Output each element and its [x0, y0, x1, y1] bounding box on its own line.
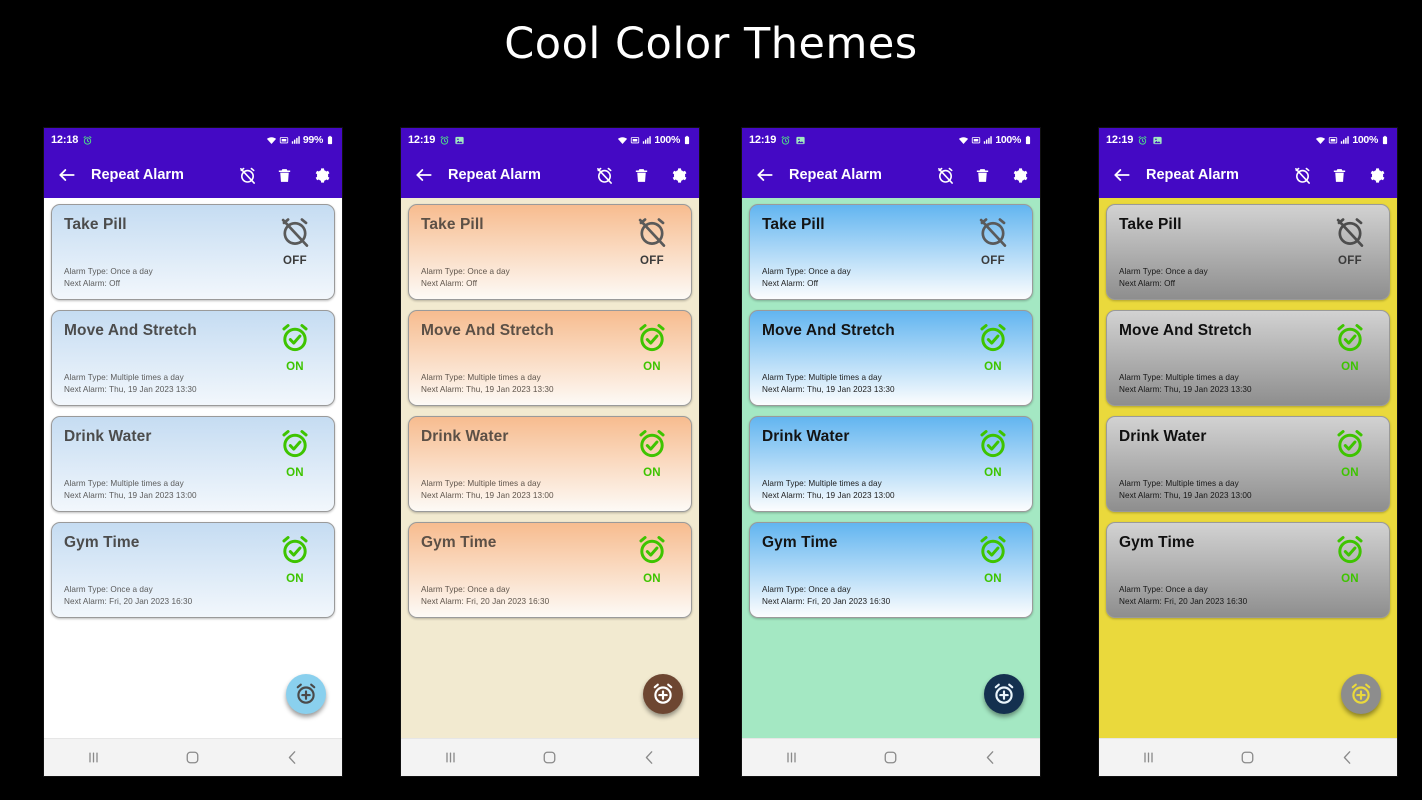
- alarm-type: Alarm Type: Multiple times a day: [762, 372, 895, 384]
- arrow-left-icon[interactable]: [55, 163, 79, 187]
- alarm-next: Next Alarm: Thu, 19 Jan 2023 13:30: [1119, 384, 1252, 396]
- alarm-meta: Alarm Type: Once a dayNext Alarm: Fri, 2…: [421, 584, 549, 607]
- alarm-card[interactable]: Gym TimeAlarm Type: Once a dayNext Alarm…: [749, 522, 1033, 618]
- alarm-meta: Alarm Type: Multiple times a dayNext Ala…: [64, 478, 197, 501]
- phone-mockup-yellow-grey: 12:19100%Repeat AlarmTake PillAlarm Type…: [1099, 128, 1397, 776]
- alarm-next: Next Alarm: Off: [64, 278, 153, 290]
- alarm-type: Alarm Type: Once a day: [421, 584, 549, 596]
- alarm-card[interactable]: Gym TimeAlarm Type: Once a dayNext Alarm…: [1106, 522, 1390, 618]
- status-image-icon: [454, 135, 465, 146]
- alarm-state-label: ON: [1341, 361, 1359, 373]
- alarm-card[interactable]: Move And StretchAlarm Type: Multiple tim…: [408, 310, 692, 406]
- alarm-state-label: ON: [643, 573, 661, 585]
- alarm-off-icon: [278, 215, 312, 254]
- app-bar: Repeat Alarm: [44, 152, 342, 198]
- alarm-meta: Alarm Type: Multiple times a dayNext Ala…: [1119, 478, 1252, 501]
- status-bar: 12:19100%: [401, 128, 699, 152]
- status-image-icon: [1152, 135, 1163, 146]
- appbar-trash-button[interactable]: [972, 165, 992, 185]
- phone-mockups-row: 12:1899%Repeat AlarmTake PillAlarm Type:…: [0, 128, 1422, 778]
- app-bar-title: Repeat Alarm: [1146, 167, 1239, 183]
- alarm-list-screen: Take PillAlarm Type: Once a dayNext Alar…: [44, 198, 342, 738]
- alarm-toggle-state[interactable]: OFF: [965, 215, 1021, 267]
- alarm-meta: Alarm Type: Multiple times a dayNext Ala…: [421, 372, 554, 395]
- app-bar: Repeat Alarm: [1099, 152, 1397, 198]
- alarm-toggle-state[interactable]: ON: [965, 321, 1021, 373]
- add-alarm-fab[interactable]: [643, 674, 683, 714]
- appbar-gear-button[interactable]: [1366, 165, 1386, 185]
- status-time: 12:19: [408, 134, 435, 146]
- appbar-alarm-off-button[interactable]: [935, 165, 955, 185]
- alarm-state-label: ON: [643, 361, 661, 373]
- alarm-type: Alarm Type: Once a day: [762, 266, 851, 278]
- alarm-list: Take PillAlarm Type: Once a dayNext Alar…: [401, 198, 699, 618]
- alarm-next: Next Alarm: Fri, 20 Jan 2023 16:30: [64, 596, 192, 608]
- status-bar: 12:19100%: [1099, 128, 1397, 152]
- alarm-meta: Alarm Type: Once a dayNext Alarm: Fri, 2…: [64, 584, 192, 607]
- system-nav-bar: [401, 738, 699, 776]
- alarm-toggle-state[interactable]: ON: [624, 427, 680, 479]
- status-alarm-icon: [1137, 135, 1148, 146]
- alarm-type: Alarm Type: Once a day: [1119, 266, 1208, 278]
- alarm-meta: Alarm Type: Once a dayNext Alarm: Off: [1119, 266, 1208, 289]
- alarm-off-icon: [635, 215, 669, 254]
- alarm-card[interactable]: Drink WaterAlarm Type: Multiple times a …: [51, 416, 335, 512]
- app-bar-actions: [935, 165, 1029, 185]
- phone-mockup-light-blue: 12:1899%Repeat AlarmTake PillAlarm Type:…: [44, 128, 342, 776]
- nav-home-button[interactable]: [168, 743, 218, 773]
- alarm-next: Next Alarm: Thu, 19 Jan 2023 13:00: [64, 490, 197, 502]
- alarm-card[interactable]: Gym TimeAlarm Type: Once a dayNext Alarm…: [408, 522, 692, 618]
- alarm-check-icon: [635, 427, 669, 466]
- app-bar: Repeat Alarm: [401, 152, 699, 198]
- alarm-next: Next Alarm: Thu, 19 Jan 2023 13:30: [762, 384, 895, 396]
- alarm-state-label: ON: [1341, 467, 1359, 479]
- arrow-left-icon[interactable]: [753, 163, 777, 187]
- alarm-type: Alarm Type: Once a day: [64, 584, 192, 596]
- status-bar: 12:1899%: [44, 128, 342, 152]
- status-alarm-icon: [780, 135, 791, 146]
- alarm-state-label: ON: [286, 361, 304, 373]
- status-time: 12:18: [51, 134, 78, 146]
- battery-icon: [1380, 135, 1390, 145]
- alarm-card[interactable]: Take PillAlarm Type: Once a dayNext Alar…: [51, 204, 335, 300]
- alarm-type: Alarm Type: Multiple times a day: [64, 372, 197, 384]
- appbar-alarm-off-button[interactable]: [594, 165, 614, 185]
- wifi-icon: [958, 135, 969, 146]
- status-alarm-icon: [439, 135, 450, 146]
- appbar-trash-button[interactable]: [274, 165, 294, 185]
- alarm-card[interactable]: Move And StretchAlarm Type: Multiple tim…: [51, 310, 335, 406]
- alarm-next: Next Alarm: Thu, 19 Jan 2023 13:30: [421, 384, 554, 396]
- alarm-toggle-state[interactable]: OFF: [1322, 215, 1378, 267]
- alarm-next: Next Alarm: Thu, 19 Jan 2023 13:00: [1119, 490, 1252, 502]
- battery-percent: 99%: [303, 134, 323, 146]
- system-nav-bar: [1099, 738, 1397, 776]
- status-bar-left: 12:19: [408, 134, 465, 146]
- appbar-trash-button[interactable]: [1329, 165, 1349, 185]
- alarm-state-label: ON: [984, 467, 1002, 479]
- app-bar-actions: [594, 165, 688, 185]
- arrow-left-icon[interactable]: [1110, 163, 1134, 187]
- alarm-card[interactable]: Take PillAlarm Type: Once a dayNext Alar…: [749, 204, 1033, 300]
- status-time: 12:19: [1106, 134, 1133, 146]
- alarm-state-label: ON: [1341, 573, 1359, 585]
- nav-recents-button[interactable]: [1124, 743, 1174, 773]
- status-bar-right: 100%: [1315, 134, 1390, 146]
- alarm-type: Alarm Type: Once a day: [762, 584, 890, 596]
- alarm-toggle-state[interactable]: ON: [1322, 427, 1378, 479]
- wifi-icon: [617, 135, 628, 146]
- alarm-state-label: OFF: [981, 255, 1005, 267]
- alarm-type: Alarm Type: Multiple times a day: [64, 478, 197, 490]
- alarm-next: Next Alarm: Fri, 20 Jan 2023 16:30: [1119, 596, 1247, 608]
- add-alarm-fab[interactable]: [1341, 674, 1381, 714]
- alarm-check-icon: [278, 427, 312, 466]
- alarm-meta: Alarm Type: Multiple times a dayNext Ala…: [64, 372, 197, 395]
- alarm-list: Take PillAlarm Type: Once a dayNext Alar…: [44, 198, 342, 618]
- alarm-toggle-state[interactable]: ON: [267, 427, 323, 479]
- signal-icon: [642, 135, 652, 145]
- alarm-off-icon: [1333, 215, 1367, 254]
- system-nav-bar: [44, 738, 342, 776]
- alarm-toggle-state[interactable]: ON: [624, 533, 680, 585]
- alarm-state-label: OFF: [1338, 255, 1362, 267]
- appbar-alarm-off-button[interactable]: [1292, 165, 1312, 185]
- battery-percent: 100%: [995, 134, 1021, 146]
- alarm-next: Next Alarm: Fri, 20 Jan 2023 16:30: [421, 596, 549, 608]
- appbar-alarm-off-button[interactable]: [237, 165, 257, 185]
- status-bar-left: 12:19: [1106, 134, 1163, 146]
- app-bar-title: Repeat Alarm: [448, 167, 541, 183]
- alarm-next: Next Alarm: Off: [762, 278, 851, 290]
- alarm-check-icon: [976, 321, 1010, 360]
- alarm-meta: Alarm Type: Once a dayNext Alarm: Fri, 2…: [762, 584, 890, 607]
- alarm-list-screen: Take PillAlarm Type: Once a dayNext Alar…: [401, 198, 699, 738]
- alarm-meta: Alarm Type: Once a dayNext Alarm: Off: [421, 266, 510, 289]
- appbar-gear-button[interactable]: [311, 165, 331, 185]
- status-image-icon: [795, 135, 806, 146]
- sim-icon: [1328, 135, 1338, 145]
- alarm-off-icon: [976, 215, 1010, 254]
- alarm-state-label: ON: [984, 361, 1002, 373]
- alarm-type: Alarm Type: Multiple times a day: [421, 478, 554, 490]
- status-bar: 12:19100%: [742, 128, 1040, 152]
- add-alarm-fab[interactable]: [984, 674, 1024, 714]
- alarm-meta: Alarm Type: Multiple times a dayNext Ala…: [762, 478, 895, 501]
- status-time: 12:19: [749, 134, 776, 146]
- alarm-next: Next Alarm: Off: [421, 278, 510, 290]
- signal-icon: [1340, 135, 1350, 145]
- appbar-gear-button[interactable]: [1009, 165, 1029, 185]
- alarm-toggle-state[interactable]: ON: [965, 533, 1021, 585]
- alarm-meta: Alarm Type: Once a dayNext Alarm: Off: [64, 266, 153, 289]
- battery-percent: 100%: [1352, 134, 1378, 146]
- alarm-card[interactable]: Take PillAlarm Type: Once a dayNext Alar…: [1106, 204, 1390, 300]
- alarm-check-icon: [1333, 321, 1367, 360]
- status-bar-right: 99%: [266, 134, 335, 146]
- app-bar-title: Repeat Alarm: [789, 167, 882, 183]
- alarm-toggle-state[interactable]: ON: [267, 321, 323, 373]
- alarm-state-label: ON: [286, 467, 304, 479]
- alarm-list: Take PillAlarm Type: Once a dayNext Alar…: [742, 198, 1040, 618]
- alarm-list-screen: Take PillAlarm Type: Once a dayNext Alar…: [742, 198, 1040, 738]
- alarm-toggle-state[interactable]: OFF: [624, 215, 680, 267]
- nav-home-button[interactable]: [1223, 743, 1273, 773]
- alarm-toggle-state[interactable]: ON: [1322, 321, 1378, 373]
- alarm-meta: Alarm Type: Multiple times a dayNext Ala…: [762, 372, 895, 395]
- alarm-type: Alarm Type: Once a day: [1119, 584, 1247, 596]
- battery-percent: 100%: [654, 134, 680, 146]
- app-bar-actions: [1292, 165, 1386, 185]
- status-bar-right: 100%: [617, 134, 692, 146]
- alarm-toggle-state[interactable]: ON: [267, 533, 323, 585]
- status-bar-left: 12:19: [749, 134, 806, 146]
- alarm-next: Next Alarm: Thu, 19 Jan 2023 13:00: [762, 490, 895, 502]
- alarm-card[interactable]: Take PillAlarm Type: Once a dayNext Alar…: [408, 204, 692, 300]
- alarm-check-icon: [976, 427, 1010, 466]
- nav-back-button[interactable]: [1322, 743, 1372, 773]
- alarm-state-label: ON: [643, 467, 661, 479]
- sim-icon: [971, 135, 981, 145]
- alarm-list: Take PillAlarm Type: Once a dayNext Alar…: [1099, 198, 1397, 618]
- alarm-type: Alarm Type: Multiple times a day: [762, 478, 895, 490]
- alarm-card[interactable]: Drink WaterAlarm Type: Multiple times a …: [749, 416, 1033, 512]
- phone-mockup-mint-blue: 12:19100%Repeat AlarmTake PillAlarm Type…: [742, 128, 1040, 776]
- alarm-meta: Alarm Type: Multiple times a dayNext Ala…: [421, 478, 554, 501]
- alarm-toggle-state[interactable]: ON: [624, 321, 680, 373]
- alarm-type: Alarm Type: Multiple times a day: [421, 372, 554, 384]
- alarm-list-screen: Take PillAlarm Type: Once a dayNext Alar…: [1099, 198, 1397, 738]
- alarm-check-icon: [635, 321, 669, 360]
- alarm-card[interactable]: Move And StretchAlarm Type: Multiple tim…: [749, 310, 1033, 406]
- nav-back-button[interactable]: [267, 743, 317, 773]
- nav-recents-button[interactable]: [767, 743, 817, 773]
- sim-icon: [630, 135, 640, 145]
- alarm-type: Alarm Type: Multiple times a day: [1119, 478, 1252, 490]
- app-bar-title: Repeat Alarm: [91, 167, 184, 183]
- battery-icon: [325, 135, 335, 145]
- alarm-check-icon: [278, 533, 312, 572]
- alarm-card[interactable]: Move And StretchAlarm Type: Multiple tim…: [1106, 310, 1390, 406]
- nav-recents-button[interactable]: [69, 743, 119, 773]
- alarm-card[interactable]: Gym TimeAlarm Type: Once a dayNext Alarm…: [51, 522, 335, 618]
- nav-home-button[interactable]: [525, 743, 575, 773]
- alarm-meta: Alarm Type: Once a dayNext Alarm: Off: [762, 266, 851, 289]
- alarm-card[interactable]: Drink WaterAlarm Type: Multiple times a …: [408, 416, 692, 512]
- alarm-type: Alarm Type: Multiple times a day: [1119, 372, 1252, 384]
- signal-icon: [983, 135, 993, 145]
- status-alarm-icon: [82, 135, 93, 146]
- page-title: Cool Color Themes: [0, 0, 1422, 69]
- phone-mockup-cream-peach: 12:19100%Repeat AlarmTake PillAlarm Type…: [401, 128, 699, 776]
- arrow-left-icon[interactable]: [412, 163, 436, 187]
- nav-home-button[interactable]: [866, 743, 916, 773]
- app-bar-actions: [237, 165, 331, 185]
- alarm-next: Next Alarm: Off: [1119, 278, 1208, 290]
- nav-back-button[interactable]: [624, 743, 674, 773]
- alarm-meta: Alarm Type: Multiple times a dayNext Ala…: [1119, 372, 1252, 395]
- alarm-meta: Alarm Type: Once a dayNext Alarm: Fri, 2…: [1119, 584, 1247, 607]
- alarm-next: Next Alarm: Thu, 19 Jan 2023 13:30: [64, 384, 197, 396]
- alarm-check-icon: [1333, 533, 1367, 572]
- alarm-check-icon: [976, 533, 1010, 572]
- alarm-state-label: OFF: [640, 255, 664, 267]
- alarm-state-label: ON: [984, 573, 1002, 585]
- nav-back-button[interactable]: [965, 743, 1015, 773]
- system-nav-bar: [742, 738, 1040, 776]
- alarm-state-label: ON: [286, 573, 304, 585]
- alarm-next: Next Alarm: Thu, 19 Jan 2023 13:00: [421, 490, 554, 502]
- battery-icon: [682, 135, 692, 145]
- alarm-check-icon: [635, 533, 669, 572]
- status-bar-left: 12:18: [51, 134, 93, 146]
- battery-icon: [1023, 135, 1033, 145]
- sim-icon: [279, 135, 289, 145]
- alarm-type: Alarm Type: Once a day: [421, 266, 510, 278]
- alarm-next: Next Alarm: Fri, 20 Jan 2023 16:30: [762, 596, 890, 608]
- nav-recents-button[interactable]: [426, 743, 476, 773]
- signal-icon: [291, 135, 301, 145]
- alarm-card[interactable]: Drink WaterAlarm Type: Multiple times a …: [1106, 416, 1390, 512]
- alarm-toggle-state[interactable]: ON: [1322, 533, 1378, 585]
- appbar-trash-button[interactable]: [631, 165, 651, 185]
- alarm-state-label: OFF: [283, 255, 307, 267]
- wifi-icon: [1315, 135, 1326, 146]
- alarm-check-icon: [1333, 427, 1367, 466]
- alarm-type: Alarm Type: Once a day: [64, 266, 153, 278]
- alarm-toggle-state[interactable]: OFF: [267, 215, 323, 267]
- alarm-toggle-state[interactable]: ON: [965, 427, 1021, 479]
- appbar-gear-button[interactable]: [668, 165, 688, 185]
- add-alarm-fab[interactable]: [286, 674, 326, 714]
- app-bar: Repeat Alarm: [742, 152, 1040, 198]
- wifi-icon: [266, 135, 277, 146]
- status-bar-right: 100%: [958, 134, 1033, 146]
- alarm-check-icon: [278, 321, 312, 360]
